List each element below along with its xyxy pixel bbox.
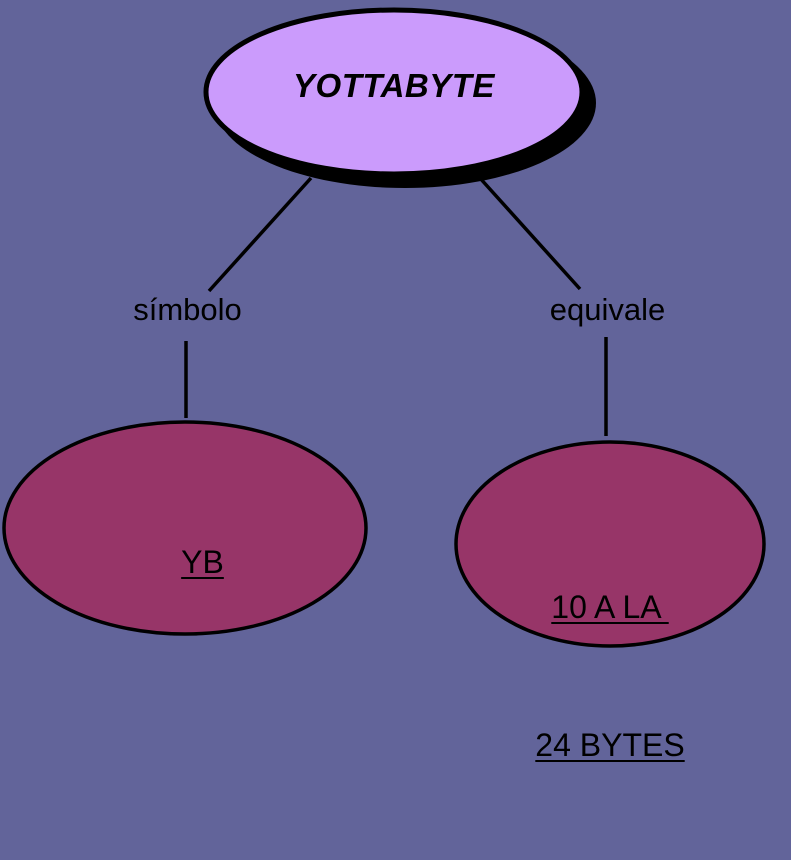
diagram-shapes	[0, 0, 791, 652]
connector-root-to-simbolo	[209, 178, 311, 291]
leaf-label-line: 24 BYTES	[535, 727, 684, 763]
connector-root-to-equivale	[479, 177, 580, 289]
leaf-node-ellipse-symbol[interactable]	[4, 422, 366, 634]
diagram-canvas: YOTTABYTE símbolo equivale YB 10 A LA 24…	[0, 0, 791, 652]
root-node-ellipse[interactable]	[206, 10, 582, 174]
leaf-node-ellipse-equivalence[interactable]	[456, 442, 764, 646]
